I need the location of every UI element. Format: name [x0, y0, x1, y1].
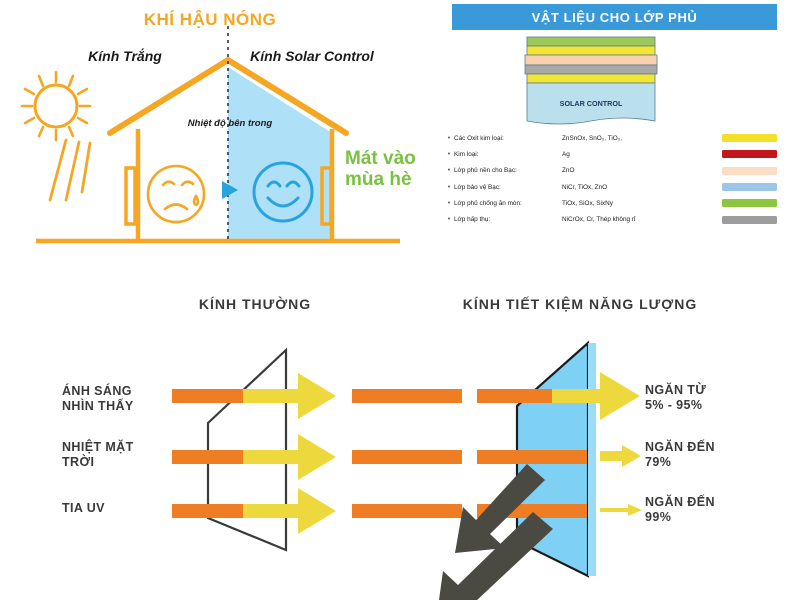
bullet-icon: • — [444, 135, 454, 142]
bullet-icon: • — [444, 167, 454, 174]
hot-climate-house-panel: KHÍ HẬU NÓNG Kính Trắng Kính Solar Contr… — [0, 0, 430, 270]
legend-row: • Lớp phủ nền cho Bạc: ZnO — [444, 163, 789, 179]
legend-color-swatch — [722, 199, 777, 207]
solar-control-stack-label: SOLAR CONTROL — [560, 99, 623, 108]
legend-color-swatch — [722, 183, 777, 191]
legend-name: Lớp phủ nền cho Bạc: — [454, 167, 562, 174]
outgoing-arrow-visible-light-normal — [243, 373, 336, 419]
infographic-root: KHÍ HẬU NÓNG Kính Trắng Kính Solar Contr… — [0, 0, 800, 600]
incoming-bar-solar-heat-energy — [477, 450, 587, 464]
left-window — [126, 168, 135, 224]
inside-temperature-label: Nhiệt độ bên trong — [150, 118, 310, 129]
legend-name: Lớp bảo vệ Bạc: — [454, 184, 562, 191]
outgoing-arrow-uv-energy — [600, 504, 642, 516]
energy-saving-glass-edge — [588, 343, 596, 576]
legend-formula: Ag — [562, 151, 722, 158]
transmission-diagram — [0, 288, 800, 600]
coating-banner-title: VẬT LIỆU CHO LỚP PHỦ — [452, 4, 777, 30]
legend-color-swatch — [722, 216, 777, 224]
legend-name: Lớp phủ chống ăn mòn: — [454, 200, 562, 207]
bullet-icon: • — [444, 200, 454, 207]
bullet-icon: • — [444, 151, 454, 158]
layer-metal-oxide-bottom — [527, 74, 655, 83]
cool-summer-line2: mùa hè — [345, 169, 430, 190]
legend-row: • Kim loại: Ag — [444, 146, 789, 162]
legend-name: Kim loại: — [454, 151, 562, 158]
legend-formula: NiCrOx, Cr, Thép không rỉ — [562, 216, 722, 223]
legend-name: Các Oxit kim loại: — [454, 135, 562, 142]
layer-silver-base — [525, 55, 657, 65]
legend-row: • Lớp hấp thụ: NiCrOx, Cr, Thép không rỉ — [444, 211, 789, 227]
outgoing-arrow-solar-heat-normal — [243, 434, 336, 480]
coating-materials-panel: VẬT LIỆU CHO LỚP PHỦ SOLAR CONTROL • Các… — [430, 0, 800, 270]
legend-row: • Lớp phủ chống ăn mòn: TiOx, SiOx, SixN… — [444, 195, 789, 211]
legend-color-swatch — [722, 150, 777, 158]
cool-summer-line1: Mát vào — [345, 148, 430, 169]
legend-formula: TiOx, SiOx, SixNy — [562, 200, 722, 207]
legend-formula: ZnSnOx, SnO₂, TiO₂, — [562, 135, 722, 142]
bullet-icon: • — [444, 216, 454, 223]
house-illustration — [0, 0, 430, 270]
sad-face-icon — [148, 166, 204, 222]
legend-color-swatch — [722, 167, 777, 175]
cool-in-summer-text: Mát vào mùa hè — [345, 148, 430, 191]
layer-absorber — [525, 65, 657, 74]
legend-row: • Lớp bảo vệ Bạc: NiCr, TiOx, ZnO — [444, 179, 789, 195]
midspan-bar-visible-light — [352, 389, 462, 403]
layer-metal-oxide-top — [527, 46, 655, 55]
legend-formula: NiCr, TiOx, ZnO — [562, 184, 722, 191]
legend-color-swatch — [722, 134, 777, 142]
midspan-bar-uv — [352, 504, 462, 518]
legend-formula: ZnO — [562, 167, 722, 174]
transmission-comparison-panel: KÍNH THƯỜNG KÍNH TIẾT KIỆM NĂNG LƯỢNG ÁN… — [0, 288, 800, 600]
outgoing-arrow-uv-normal — [243, 488, 336, 534]
midspan-bar-solar-heat — [352, 450, 462, 464]
legend-row: • Các Oxit kim loại: ZnSnOx, SnO₂, TiO₂, — [444, 130, 789, 146]
sun-icon — [22, 72, 90, 200]
layer-anti-corrosion — [527, 37, 655, 46]
outgoing-arrow-solar-heat-energy — [600, 445, 641, 467]
coating-layer-stack-diagram: SOLAR CONTROL — [523, 36, 663, 128]
legend-name: Lớp hấp thụ: — [454, 216, 562, 223]
coating-legend-table: • Các Oxit kim loại: ZnSnOx, SnO₂, TiO₂,… — [444, 130, 789, 228]
bullet-icon: • — [444, 184, 454, 191]
